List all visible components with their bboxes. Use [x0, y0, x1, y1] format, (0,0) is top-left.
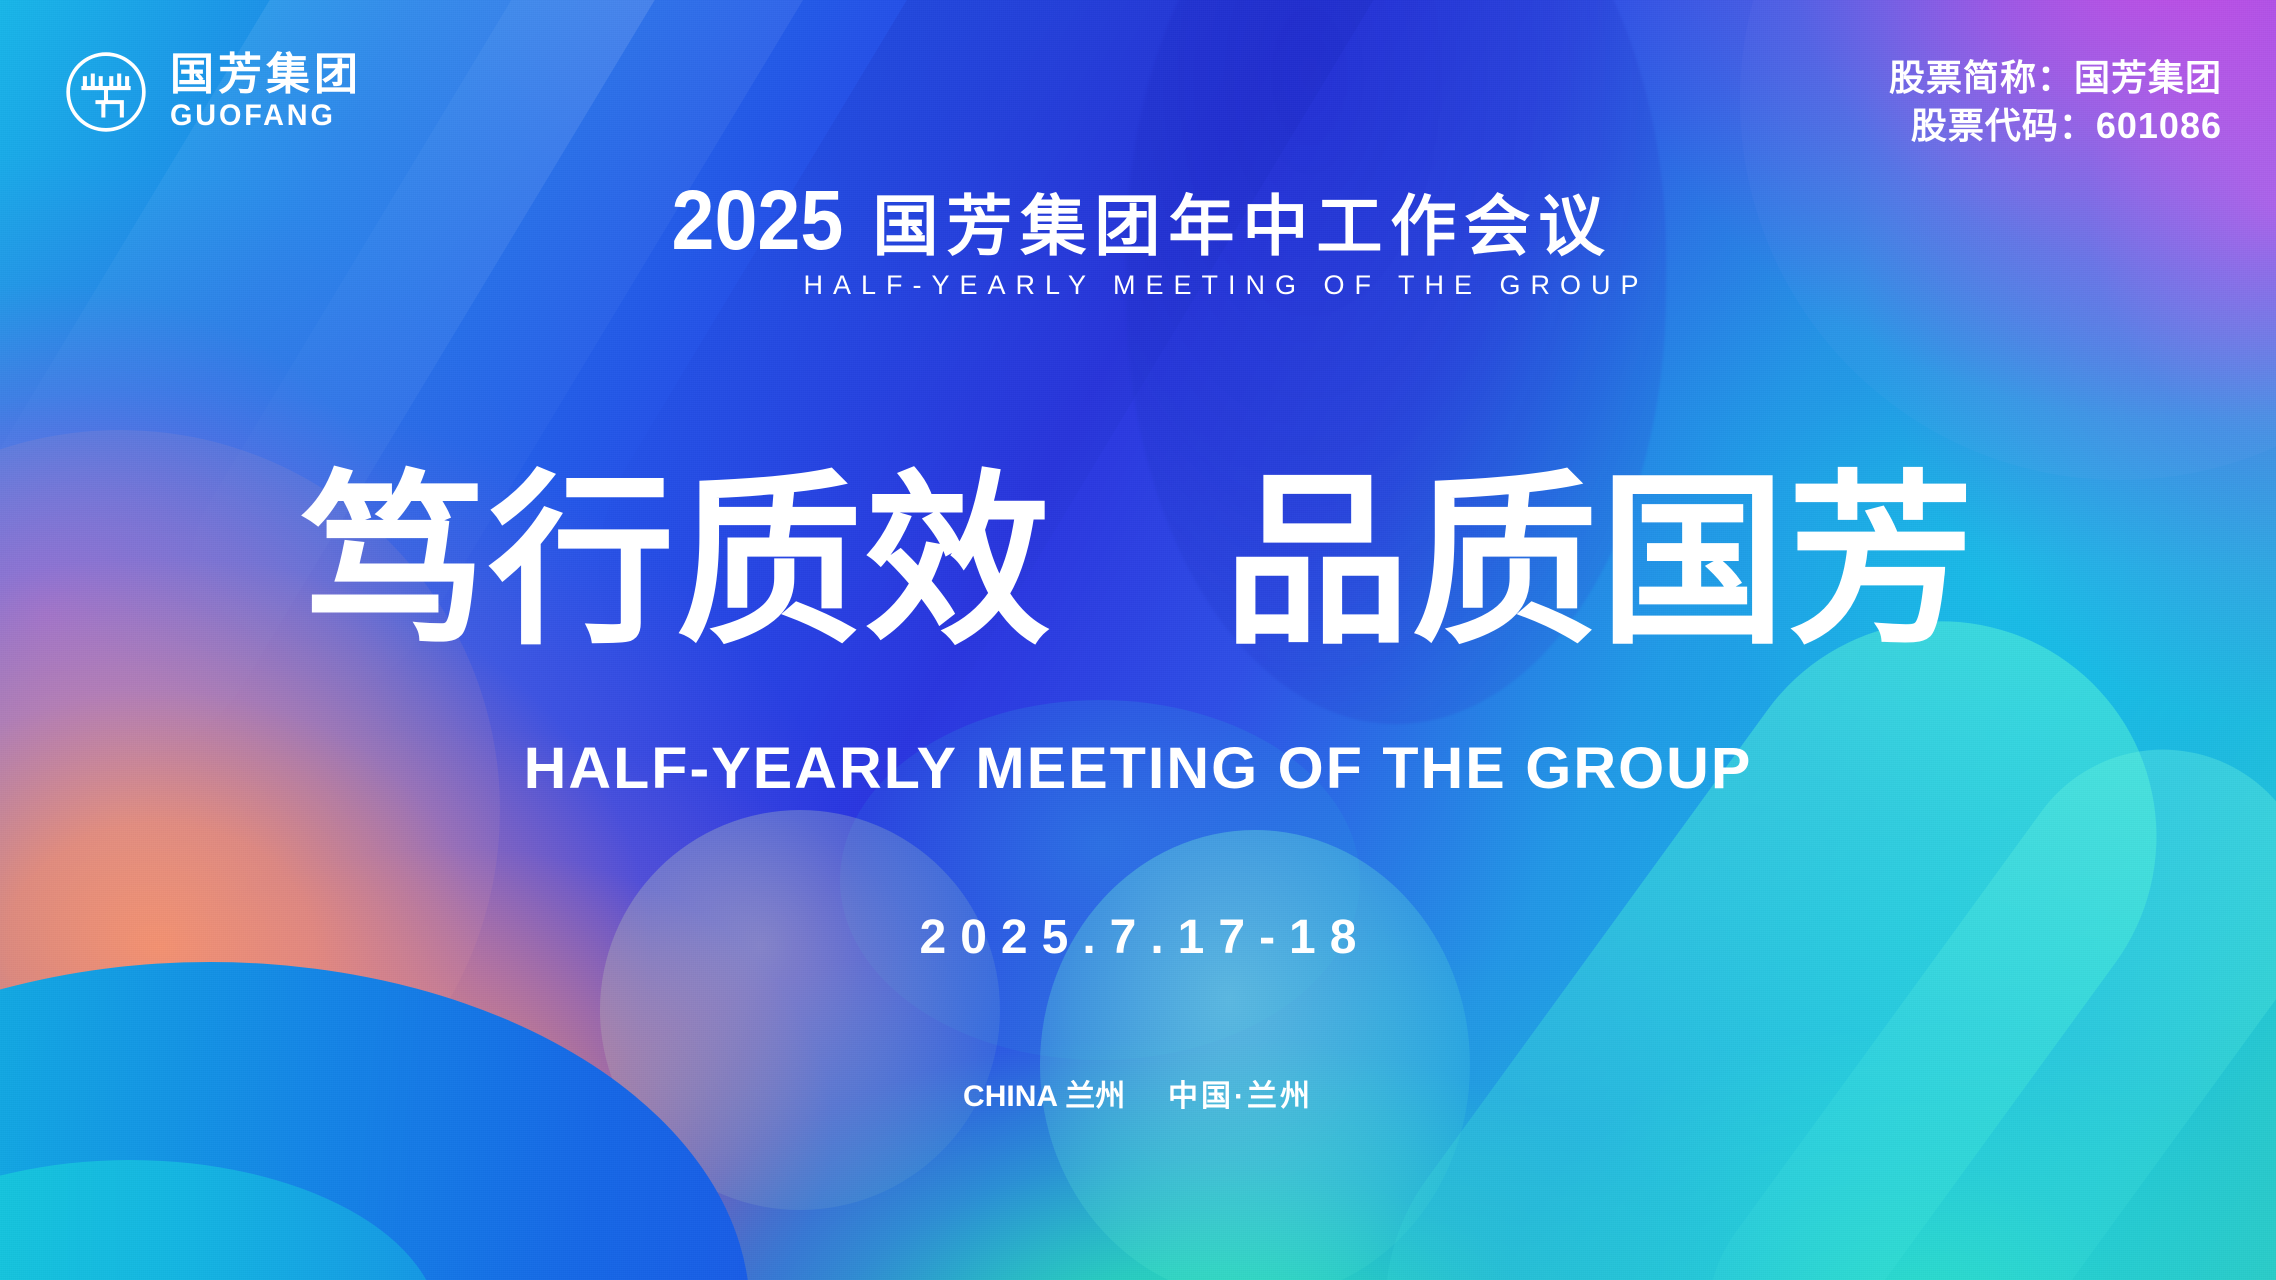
location-en: CHINA 兰州 [963, 1080, 1125, 1113]
stock-info: 股票简称：国芳集团 股票代码：601086 [1889, 54, 2222, 150]
guofang-circle-emblem-icon [62, 48, 150, 136]
brand-name-cn: 国芳集团 [170, 53, 362, 97]
brand-logo-text: 国芳集团 GUOFANG [170, 53, 362, 131]
brand-logo: 国芳集团 GUOFANG [62, 48, 362, 136]
stock-name-line: 股票简称：国芳集团 [1889, 54, 2222, 102]
event-title-block: 2025 国芳集团年中工作会议 HALF-YEARLY MEETING OF T… [0, 178, 2276, 299]
event-location: CHINA 兰州 中国·兰州 [0, 1082, 2276, 1112]
brand-name-en: GUOFANG [170, 101, 354, 131]
headline-part-1: 笃行质效 [300, 459, 1052, 666]
event-title-cn: 国芳集团年中工作会议 [872, 193, 1612, 259]
event-title-year: 2025 [671, 178, 843, 262]
headline-english: HALF-YEARLY MEETING OF THE GROUP [0, 740, 2276, 798]
stock-code-line: 股票代码：601086 [1889, 102, 2222, 150]
event-date: 2025.7.17-18 [0, 914, 2276, 962]
headline-slogan: 笃行质效 品质国芳 [0, 470, 2276, 656]
event-title-row: 2025 国芳集团年中工作会议 [664, 178, 1613, 262]
event-title-en: HALF-YEARLY MEETING OF THE GROUP [0, 272, 2276, 299]
conference-poster: 国芳集团 GUOFANG 股票简称：国芳集团 股票代码：601086 2025 … [0, 0, 2276, 1280]
location-cn: 中国·兰州 [1168, 1080, 1313, 1113]
headline-part-2: 品质国芳 [1224, 459, 1976, 666]
